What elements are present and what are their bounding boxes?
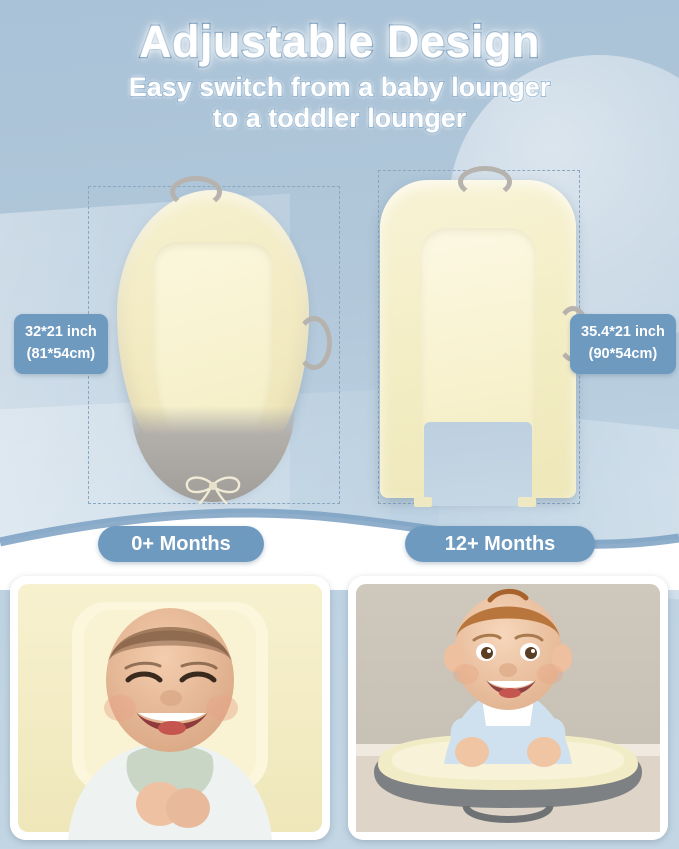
- product-illustration-baby-lounger: [105, 182, 320, 512]
- age-badge-baby: 0+ Months: [98, 526, 264, 562]
- product-illustration-toddler-lounger: [380, 172, 580, 507]
- size-badge-toddler-inch: 35.4*21 inch: [581, 322, 665, 344]
- baby-lounger-top-handle: [170, 176, 222, 208]
- subtitle-line-2: to a toddler lounger: [0, 103, 679, 134]
- size-badge-baby-cm: (81*54cm): [25, 344, 97, 366]
- toddler-lounger-top-handle: [458, 166, 512, 198]
- page-subtitle: Easy switch from a baby lounger to a tod…: [0, 72, 679, 135]
- baby-lounger-side-handle: [296, 316, 332, 370]
- heading-block: Adjustable Design Easy switch from a bab…: [0, 18, 679, 134]
- toddler-lounger-inner-mattress: [420, 228, 536, 442]
- size-badge-toddler-cm: (90*54cm): [581, 344, 665, 366]
- subtitle-line-1: Easy switch from a baby lounger: [0, 72, 679, 103]
- size-badge-baby-lounger: 32*21 inch (81*54cm): [14, 314, 108, 374]
- photo-toddler-scene: [348, 576, 668, 840]
- size-badge-toddler-lounger: 35.4*21 inch (90*54cm): [570, 314, 676, 374]
- photo-toddler-in-lounger: Toddler doing tummy time on cream and gr…: [348, 576, 668, 840]
- toddler-lounger-open-notch: [424, 422, 532, 506]
- photo-baby-scene: [10, 576, 330, 840]
- page-title: Adjustable Design: [0, 18, 679, 66]
- photo-baby-in-lounger: Smiling baby lying in cream lounger wear…: [10, 576, 330, 840]
- product-infographic: Adjustable Design Easy switch from a bab…: [0, 0, 679, 849]
- size-badge-baby-inch: 32*21 inch: [25, 322, 97, 344]
- age-badge-toddler: 12+ Months: [405, 526, 595, 562]
